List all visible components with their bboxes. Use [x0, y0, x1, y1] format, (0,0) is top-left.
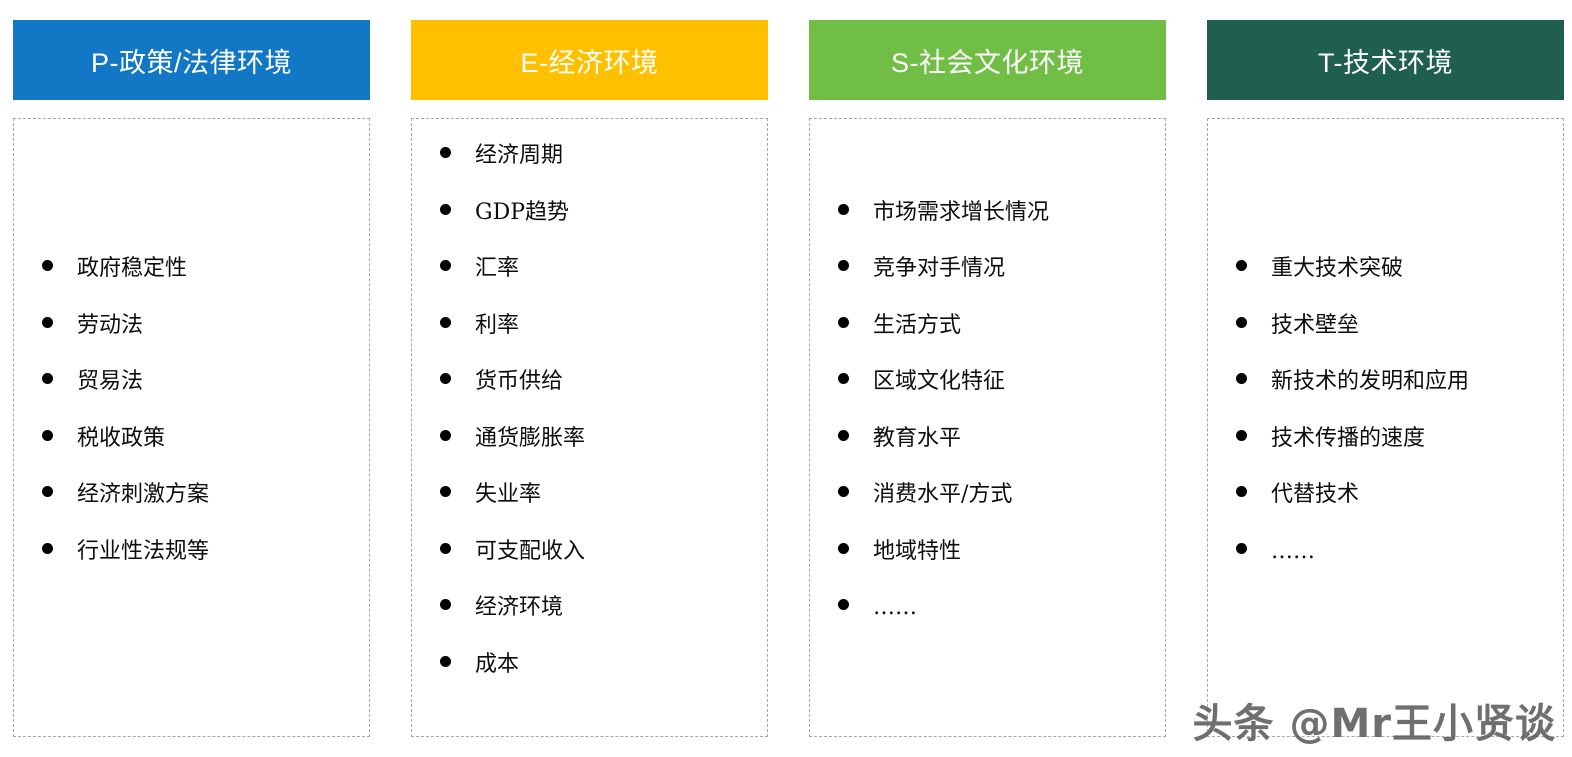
- bullet-dot-icon: [838, 543, 849, 554]
- list-item-label: 技术壁垒: [1271, 315, 1359, 337]
- list-item[interactable]: 税收政策: [14, 428, 369, 485]
- factor-list-political: 政府稳定性劳动法贸易法税收政策经济刺激方案行业性法规等: [14, 258, 369, 597]
- bullet-dot-icon: [440, 430, 451, 441]
- column-header-political[interactable]: P-政策/法律环境: [13, 20, 370, 100]
- list-item[interactable]: 成本: [412, 654, 767, 711]
- list-item[interactable]: 可支配收入: [412, 541, 767, 598]
- bullet-dot-icon: [440, 486, 451, 497]
- list-item-label: 失业率: [475, 484, 541, 506]
- list-item-label: ……: [873, 597, 917, 619]
- list-item-label: 贸易法: [77, 371, 143, 393]
- bullet-dot-icon: [838, 260, 849, 271]
- list-item-label: 生活方式: [873, 315, 961, 337]
- column-body-technological: 重大技术突破技术壁垒新技术的发明和应用技术传播的速度代替技术……: [1207, 118, 1564, 737]
- list-item[interactable]: 代替技术: [1208, 484, 1563, 541]
- factor-list-technological: 重大技术突破技术壁垒新技术的发明和应用技术传播的速度代替技术……: [1208, 258, 1563, 597]
- bullet-dot-icon: [42, 486, 53, 497]
- column-header-economic[interactable]: E-经济环境: [411, 20, 768, 100]
- bullet-dot-icon: [1236, 317, 1247, 328]
- list-item[interactable]: 技术壁垒: [1208, 315, 1563, 372]
- list-item-label: 利率: [475, 315, 519, 337]
- list-item[interactable]: 通货膨胀率: [412, 428, 767, 485]
- bullet-dot-icon: [440, 147, 451, 158]
- bullet-dot-icon: [838, 486, 849, 497]
- list-item-label: 通货膨胀率: [475, 428, 585, 450]
- list-item-label: 劳动法: [77, 315, 143, 337]
- bullet-dot-icon: [440, 599, 451, 610]
- bullet-dot-icon: [42, 317, 53, 328]
- list-item-label: 重大技术突破: [1271, 258, 1403, 280]
- bullet-dot-icon: [42, 373, 53, 384]
- list-item-label: 货币供给: [475, 371, 563, 393]
- column-body-political: 政府稳定性劳动法贸易法税收政策经济刺激方案行业性法规等: [13, 118, 370, 737]
- list-item[interactable]: ……: [810, 597, 1165, 654]
- list-item[interactable]: 经济刺激方案: [14, 484, 369, 541]
- list-item[interactable]: 消费水平/方式: [810, 484, 1165, 541]
- list-item[interactable]: 经济环境: [412, 597, 767, 654]
- list-item[interactable]: GDP趋势: [412, 202, 767, 259]
- bullet-dot-icon: [440, 317, 451, 328]
- list-item[interactable]: 技术传播的速度: [1208, 428, 1563, 485]
- list-item-label: ……: [1271, 541, 1315, 563]
- list-item[interactable]: 贸易法: [14, 371, 369, 428]
- list-item-label: 税收政策: [77, 428, 165, 450]
- bullet-dot-icon: [440, 204, 451, 215]
- list-item[interactable]: 行业性法规等: [14, 541, 369, 598]
- pest-analysis-board: P-政策/法律环境政府稳定性劳动法贸易法税收政策经济刺激方案行业性法规等E-经济…: [0, 0, 1572, 757]
- bullet-dot-icon: [838, 204, 849, 215]
- list-item[interactable]: 经济周期: [412, 145, 767, 202]
- list-item[interactable]: 竞争对手情况: [810, 258, 1165, 315]
- bullet-dot-icon: [42, 260, 53, 271]
- bullet-dot-icon: [1236, 430, 1247, 441]
- bullet-dot-icon: [838, 373, 849, 384]
- bullet-dot-icon: [1236, 260, 1247, 271]
- bullet-dot-icon: [1236, 543, 1247, 554]
- list-item-label: 政府稳定性: [77, 258, 187, 280]
- list-item-label: 区域文化特征: [873, 371, 1005, 393]
- list-item[interactable]: 利率: [412, 315, 767, 372]
- list-item[interactable]: 区域文化特征: [810, 371, 1165, 428]
- list-item-label: 经济周期: [475, 145, 563, 167]
- list-item[interactable]: 生活方式: [810, 315, 1165, 372]
- list-item[interactable]: 政府稳定性: [14, 258, 369, 315]
- bullet-dot-icon: [1236, 373, 1247, 384]
- list-item[interactable]: ……: [1208, 541, 1563, 598]
- pest-column-technological: T-技术环境重大技术突破技术壁垒新技术的发明和应用技术传播的速度代替技术……: [1207, 20, 1564, 737]
- list-item-label: 新技术的发明和应用: [1271, 371, 1469, 393]
- list-item-label: 代替技术: [1271, 484, 1359, 506]
- column-body-economic: 经济周期GDP趋势汇率利率货币供给通货膨胀率失业率可支配收入经济环境成本: [411, 118, 768, 737]
- list-item-label: 经济环境: [475, 597, 563, 619]
- column-header-technological[interactable]: T-技术环境: [1207, 20, 1564, 100]
- bullet-dot-icon: [42, 430, 53, 441]
- list-item[interactable]: 货币供给: [412, 371, 767, 428]
- factor-list-social: 市场需求增长情况竞争对手情况生活方式区域文化特征教育水平消费水平/方式地域特性……: [810, 202, 1165, 654]
- list-item-label: 可支配收入: [475, 541, 585, 563]
- bullet-dot-icon: [440, 543, 451, 554]
- list-item-label: 成本: [475, 654, 519, 676]
- list-item-label: 竞争对手情况: [873, 258, 1005, 280]
- factor-list-economic: 经济周期GDP趋势汇率利率货币供给通货膨胀率失业率可支配收入经济环境成本: [412, 145, 767, 710]
- list-item-label: GDP趋势: [475, 202, 569, 224]
- list-item-label: 经济刺激方案: [77, 484, 209, 506]
- list-item[interactable]: 教育水平: [810, 428, 1165, 485]
- list-item-label: 技术传播的速度: [1271, 428, 1425, 450]
- list-item-label: 市场需求增长情况: [873, 202, 1049, 224]
- list-item[interactable]: 失业率: [412, 484, 767, 541]
- bullet-dot-icon: [440, 656, 451, 667]
- list-item[interactable]: 汇率: [412, 258, 767, 315]
- column-body-social: 市场需求增长情况竞争对手情况生活方式区域文化特征教育水平消费水平/方式地域特性……: [809, 118, 1166, 737]
- list-item[interactable]: 地域特性: [810, 541, 1165, 598]
- list-item[interactable]: 市场需求增长情况: [810, 202, 1165, 259]
- pest-column-political: P-政策/法律环境政府稳定性劳动法贸易法税收政策经济刺激方案行业性法规等: [13, 20, 370, 737]
- column-header-social[interactable]: S-社会文化环境: [809, 20, 1166, 100]
- bullet-dot-icon: [838, 317, 849, 328]
- list-item-label: 汇率: [475, 258, 519, 280]
- bullet-dot-icon: [838, 430, 849, 441]
- list-item-label: 教育水平: [873, 428, 961, 450]
- pest-column-social: S-社会文化环境市场需求增长情况竞争对手情况生活方式区域文化特征教育水平消费水平…: [809, 20, 1166, 737]
- list-item-label: 消费水平/方式: [873, 484, 1012, 506]
- pest-column-economic: E-经济环境经济周期GDP趋势汇率利率货币供给通货膨胀率失业率可支配收入经济环境…: [411, 20, 768, 737]
- list-item-label: 地域特性: [873, 541, 961, 563]
- bullet-dot-icon: [1236, 486, 1247, 497]
- list-item[interactable]: 新技术的发明和应用: [1208, 371, 1563, 428]
- bullet-dot-icon: [42, 543, 53, 554]
- list-item[interactable]: 劳动法: [14, 315, 369, 372]
- bullet-dot-icon: [838, 599, 849, 610]
- bullet-dot-icon: [440, 260, 451, 271]
- list-item-label: 行业性法规等: [77, 541, 209, 563]
- list-item[interactable]: 重大技术突破: [1208, 258, 1563, 315]
- bullet-dot-icon: [440, 373, 451, 384]
